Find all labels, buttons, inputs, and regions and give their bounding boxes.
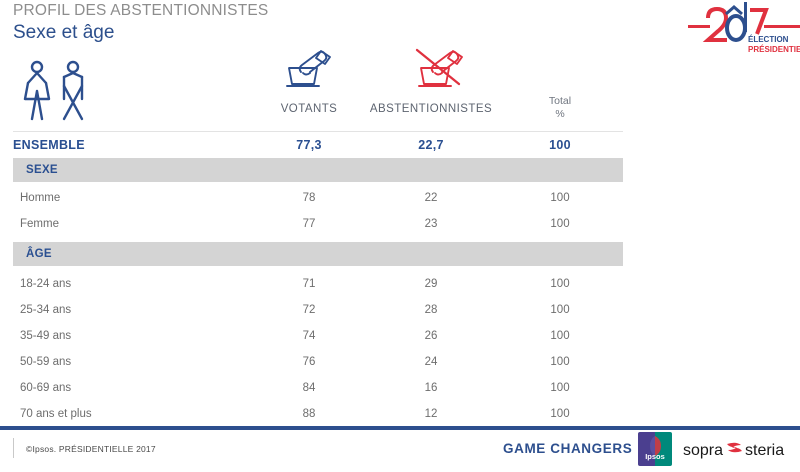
footer-blue-bar (0, 426, 800, 430)
group-label: ÂGE (13, 242, 52, 266)
sopra-steria-mark (727, 443, 742, 453)
cell-total: 100 (522, 131, 598, 158)
table-row: 18-24 ans 71 29 100 (0, 271, 800, 297)
cell-votants: 88 (250, 401, 368, 427)
cell-total: 100 (522, 349, 598, 375)
cell-votants: 77,3 (250, 131, 368, 158)
cell-votants: 71 (250, 271, 368, 297)
footer-divider (13, 438, 14, 458)
table-row: 25-34 ans 72 28 100 (0, 297, 800, 323)
ipsos-logo: Ipsos (638, 432, 672, 466)
column-header-total-line2: % (522, 108, 598, 121)
table-row: 50-59 ans 76 24 100 (0, 349, 800, 375)
table-row: Homme 78 22 100 (0, 185, 800, 211)
cell-total: 100 (522, 375, 598, 401)
table-group-header-sexe: SEXE (13, 158, 623, 182)
table-group-header-age: ÂGE (13, 242, 623, 266)
cell-abstentionnistes: 29 (360, 271, 502, 297)
table-row: 60-69 ans 84 16 100 (0, 375, 800, 401)
cell-votants: 74 (250, 323, 368, 349)
row-label: Homme (0, 185, 60, 211)
column-header-total-line1: Total (522, 95, 598, 108)
footer-game-changers: GAME CHANGERS (503, 441, 632, 456)
cell-votants: 72 (250, 297, 368, 323)
cell-abstentionnistes: 24 (360, 349, 502, 375)
cell-total: 100 (522, 271, 598, 297)
logo-line2: PRÉSIDENTIELLE (748, 45, 800, 54)
cell-abstentionnistes: 26 (360, 323, 502, 349)
cell-votants: 76 (250, 349, 368, 375)
cell-votants: 84 (250, 375, 368, 401)
table-row: 35-49 ans 74 26 100 (0, 323, 800, 349)
sopra-logo-text-2: steria (745, 442, 784, 459)
row-label: 50-59 ans (0, 349, 71, 375)
cell-total: 100 (522, 185, 598, 211)
column-header-abstentionnistes: ABSTENTIONNISTES (360, 103, 502, 115)
cell-abstentionnistes: 12 (360, 401, 502, 427)
cell-votants: 78 (250, 185, 368, 211)
table-row: Femme 77 23 100 (0, 211, 800, 237)
row-label: 18-24 ans (0, 271, 71, 297)
ballot-box-hand-crossed-icon (413, 44, 469, 92)
table-row: 70 ans et plus 88 12 100 (0, 401, 800, 427)
cell-abstentionnistes: 23 (360, 211, 502, 237)
cell-votants: 77 (250, 211, 368, 237)
election-2017-logo-icon: ÉLECTION PRÉSIDENTIELLE (688, 0, 800, 58)
row-label: ENSEMBLE (0, 131, 85, 158)
column-header-votants: VOTANTS (250, 103, 368, 115)
sopra-steria-logo: sopra steria (683, 438, 795, 460)
page-kicker: PROFIL DES ABSTENTIONNISTES (13, 2, 268, 20)
row-label: 60-69 ans (0, 375, 71, 401)
column-header-total: Total % (522, 95, 598, 121)
cell-abstentionnistes: 22,7 (360, 131, 502, 158)
logo-line1: ÉLECTION (748, 35, 789, 44)
table-row-ensemble: ENSEMBLE 77,3 22,7 100 (0, 131, 800, 158)
slide-root: PROFIL DES ABSTENTIONNISTES Sexe et âge … (0, 0, 800, 472)
cell-total: 100 (522, 211, 598, 237)
cell-total: 100 (522, 323, 598, 349)
footer-copyright: ©Ipsos. PRÉSIDENTIELLE 2017 (26, 444, 156, 454)
cell-abstentionnistes: 22 (360, 185, 502, 211)
row-label: Femme (0, 211, 59, 237)
page-title: Sexe et âge (13, 22, 114, 44)
male-female-icon (16, 58, 102, 124)
row-label: 70 ans et plus (0, 401, 92, 427)
cell-total: 100 (522, 401, 598, 427)
data-table: ENSEMBLE 77,3 22,7 100 SEXE Homme 78 22 … (0, 131, 800, 427)
cell-total: 100 (522, 297, 598, 323)
ballot-box-hand-icon (283, 46, 335, 92)
cell-abstentionnistes: 16 (360, 375, 502, 401)
ipsos-logo-text: Ipsos (645, 452, 665, 461)
election-2017-logo: ÉLECTION PRÉSIDENTIELLE (688, 0, 800, 58)
cell-abstentionnistes: 28 (360, 297, 502, 323)
sopra-logo-text-1: sopra (683, 442, 723, 459)
group-label: SEXE (13, 158, 58, 182)
row-label: 35-49 ans (0, 323, 71, 349)
row-label: 25-34 ans (0, 297, 71, 323)
